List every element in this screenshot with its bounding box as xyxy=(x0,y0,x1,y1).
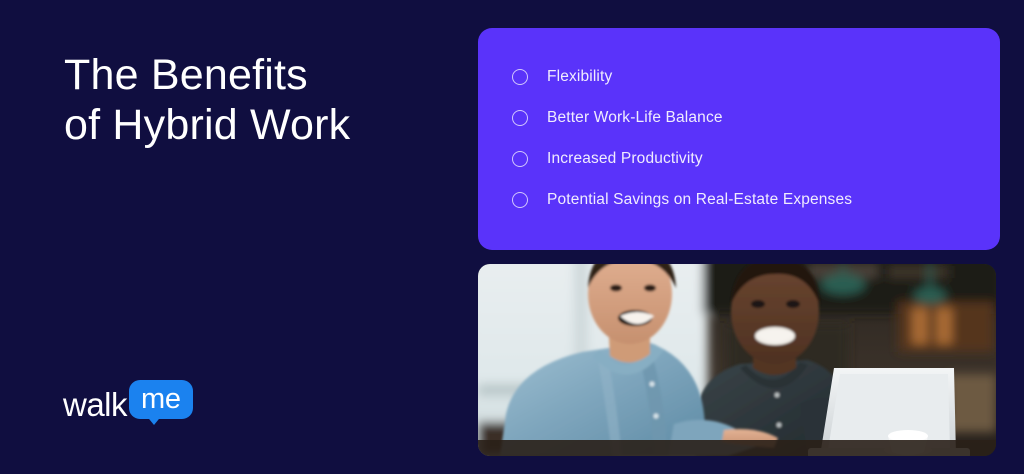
walkme-logo[interactable]: walk me xyxy=(63,383,193,427)
circle-outline-icon xyxy=(512,151,528,167)
list-item: Better Work-Life Balance xyxy=(512,105,980,130)
list-item: Increased Productivity xyxy=(512,146,980,171)
benefit-label: Potential Savings on Real-Estate Expense… xyxy=(547,190,852,210)
office-photo xyxy=(478,264,996,456)
circle-outline-icon xyxy=(512,69,528,85)
office-photo-illustration xyxy=(478,264,996,456)
page-title: The Benefits of Hybrid Work xyxy=(64,50,454,150)
speech-bubble-tail-icon xyxy=(145,414,163,425)
logo-bubble: me xyxy=(129,383,193,416)
logo-word-walk: walk xyxy=(63,387,127,423)
benefit-label: Increased Productivity xyxy=(547,149,703,169)
benefit-label: Better Work-Life Balance xyxy=(547,108,723,128)
benefit-label: Flexibility xyxy=(547,67,612,87)
benefits-card: Flexibility Better Work-Life Balance Inc… xyxy=(478,28,1000,250)
benefits-list: Flexibility Better Work-Life Balance Inc… xyxy=(512,64,980,212)
hybrid-work-banner: The Benefits of Hybrid Work walk me Flex… xyxy=(0,0,1024,474)
circle-outline-icon xyxy=(512,110,528,126)
list-item: Flexibility xyxy=(512,64,980,89)
circle-outline-icon xyxy=(512,192,528,208)
left-column: The Benefits of Hybrid Work walk me xyxy=(0,0,470,474)
list-item: Potential Savings on Real-Estate Expense… xyxy=(512,187,980,212)
